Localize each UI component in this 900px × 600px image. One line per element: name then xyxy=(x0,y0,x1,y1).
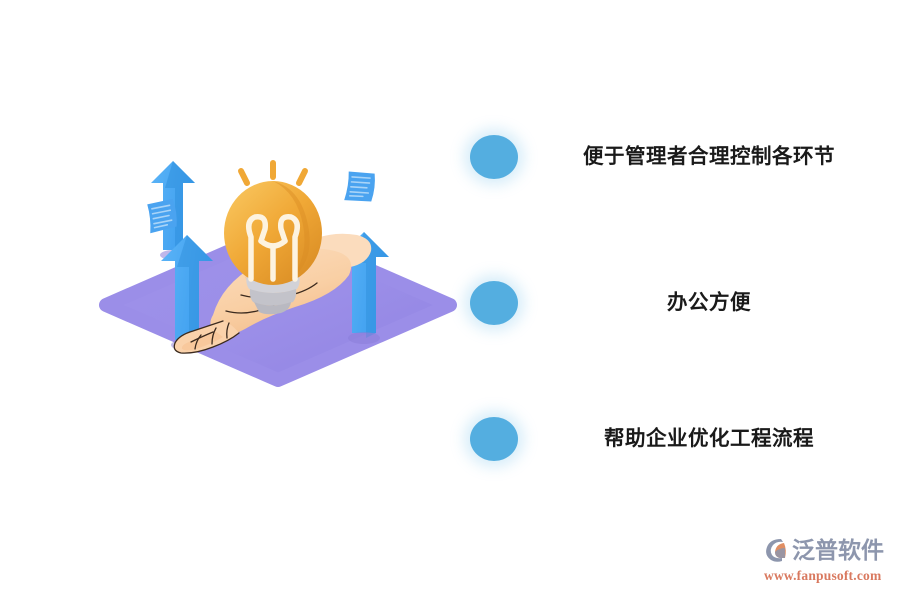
brand-name: 泛普软件 xyxy=(792,539,884,562)
bullet-row[interactable]: 办公方便 xyxy=(470,278,890,328)
bullet-dot-icon xyxy=(470,417,518,461)
spark-rays-icon xyxy=(241,163,305,183)
paper-right-icon xyxy=(344,170,376,203)
bullet-row[interactable]: 帮助企业优化工程流程 xyxy=(470,414,890,464)
light-bulb-icon xyxy=(224,181,322,285)
page-canvas: 便于管理者合理控制各环节 办公方便 帮助企业优化工程流程 泛普软件 www.fa… xyxy=(0,0,900,600)
bullet-label: 便于管理者合理控制各环节 xyxy=(518,145,890,170)
brand-url: www.fanpusoft.com xyxy=(764,568,890,584)
bullet-label: 办公方便 xyxy=(518,291,890,316)
brand-logo[interactable]: 泛普软件 www.fanpusoft.com xyxy=(762,534,890,586)
brand-logo-top-row: 泛普软件 xyxy=(762,534,890,566)
bullet-row[interactable]: 便于管理者合理控制各环节 xyxy=(470,132,890,182)
bullet-label: 帮助企业优化工程流程 xyxy=(518,427,890,452)
bullet-dot-icon xyxy=(470,281,518,325)
fanpu-logo-mark-icon xyxy=(762,536,790,564)
hand-holding-lightbulb-illustration xyxy=(95,155,465,405)
bullet-dot-icon xyxy=(470,135,518,179)
